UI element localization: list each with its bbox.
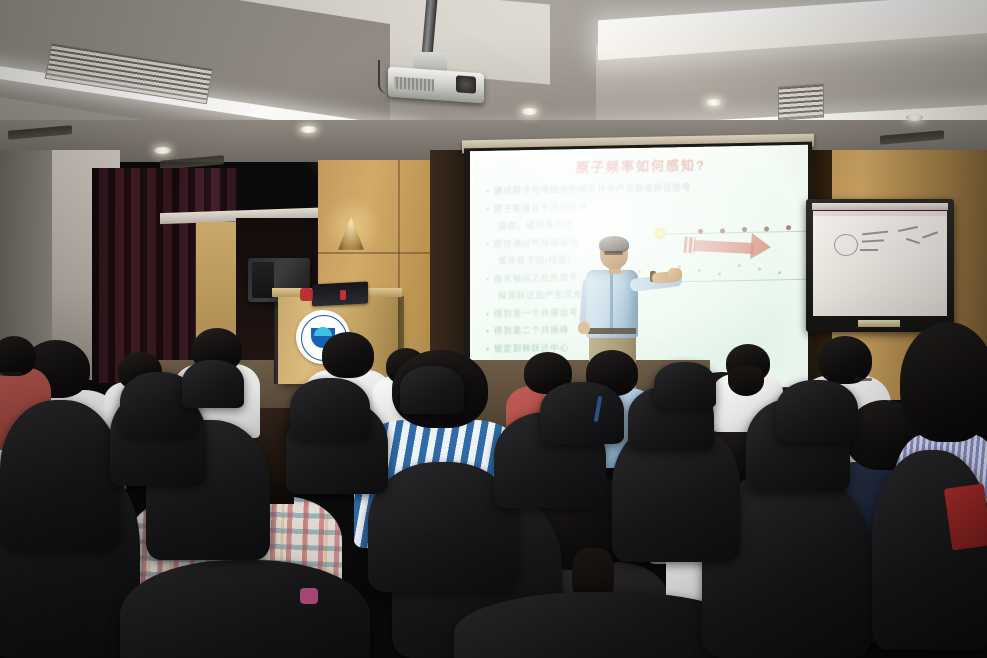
- chair-row2-1[interactable]: [0, 400, 120, 550]
- chair-row5-3[interactable]: [654, 362, 716, 408]
- downlight-4: [705, 99, 722, 106]
- attendee-hair-bun: [728, 366, 764, 396]
- attendee-longhair-right-head: [900, 322, 987, 442]
- podium-microphone: [340, 290, 346, 300]
- chair-row4-3[interactable]: [540, 382, 624, 444]
- whiteboard-header-strip: [813, 211, 947, 216]
- downlight-1: [154, 147, 171, 154]
- chair-row2-5[interactable]: [872, 450, 987, 650]
- whiteboard-sketch-circle: [834, 234, 858, 256]
- presenter-glasses: [604, 251, 623, 255]
- whiteboard-marker-tray: [858, 320, 900, 327]
- presenter-left-hand: [578, 322, 590, 334]
- presenter-belt: [588, 328, 636, 334]
- whiteboard-ink-stroke: [860, 249, 878, 251]
- red-bag: [944, 484, 987, 551]
- podium-red-object: [300, 288, 313, 301]
- presenter-shirt-placket: [610, 272, 613, 330]
- projector-lens-icon: [456, 75, 476, 93]
- chair-row4-5[interactable]: [776, 380, 858, 442]
- attendee-white-shirt-right-head: [818, 336, 872, 384]
- chair-row5-1[interactable]: [182, 360, 244, 408]
- downlight-3: [521, 108, 538, 115]
- pink-item: [300, 588, 318, 604]
- eyeglasses: [854, 378, 872, 381]
- chair-row5-2[interactable]: [400, 366, 464, 414]
- attendee-glasses-far-left-head: [0, 336, 36, 376]
- downlight-5: [906, 114, 923, 121]
- presenter-pointing-hand: [668, 268, 682, 281]
- attendee-white-polo-mid-head: [322, 332, 374, 378]
- lecture-hall-photo: 原子频率如何感知? 通过原子与电磁场的相互作用产生能级跃迁信号原子能级在不同的环…: [0, 0, 987, 658]
- eyeglasses: [0, 372, 22, 376]
- chair-row1-2[interactable]: [120, 560, 370, 658]
- downlight-2: [300, 126, 317, 133]
- whiteboard-top-rail: [812, 203, 948, 210]
- chair-row4-2[interactable]: [290, 378, 370, 440]
- whiteboard-surface: [813, 211, 947, 316]
- hvac-vent-grille-right: [778, 83, 824, 120]
- pa-loudspeaker-driver: [252, 262, 274, 298]
